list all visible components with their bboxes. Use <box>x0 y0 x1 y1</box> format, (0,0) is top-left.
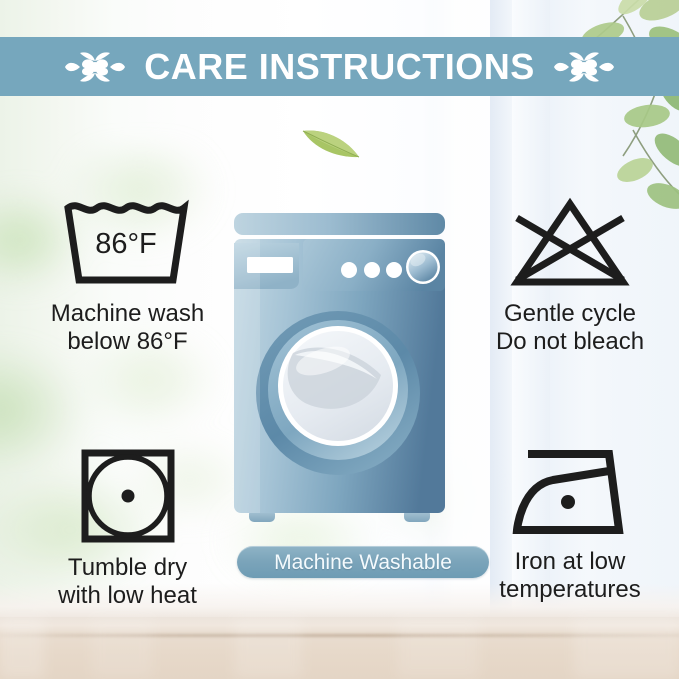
wash-temperature-label: 86°F <box>95 228 157 260</box>
care-symbol-caption: Tumble dry with low heat <box>58 554 197 610</box>
body-highlight <box>234 239 260 513</box>
caption-line-1: Tumble dry <box>68 554 187 581</box>
wash-tub-icon: 86°F <box>60 196 196 292</box>
care-symbol-do-not-bleach: Gentle cycle Do not bleach <box>470 196 670 356</box>
caption-line-2: with low heat <box>58 582 197 609</box>
care-symbol-caption: Gentle cycle Do not bleach <box>496 300 644 356</box>
tumble-dry-square-icon <box>78 446 178 546</box>
fleur-de-lis-left-icon <box>64 48 126 86</box>
indicator-dot <box>386 262 402 278</box>
care-symbol-tumble-dry: Tumble dry with low heat <box>20 446 235 610</box>
caption-line-2: temperatures <box>499 576 640 603</box>
floating-leaf-icon <box>300 122 362 162</box>
care-symbol-caption: Machine wash below 86°F <box>51 300 204 356</box>
caption-line-1: Machine wash <box>51 300 204 327</box>
iron-icon <box>505 446 635 540</box>
header-banner: CARE INSTRUCTIONS <box>0 37 679 96</box>
badge-label: Machine Washable <box>274 552 452 573</box>
care-symbol-caption: Iron at low temperatures <box>499 548 640 604</box>
machine-top-lid <box>234 213 445 235</box>
leaves-icon <box>495 0 679 220</box>
page-title: CARE INSTRUCTIONS <box>144 49 535 85</box>
care-instructions-graphic: CARE INSTRUCTIONS 86°F Machine wash belo… <box>0 0 679 679</box>
wood-surface <box>0 617 679 679</box>
caption-line-2: below 86°F <box>67 328 187 355</box>
caption-line-1: Iron at low <box>515 548 626 575</box>
care-symbol-machine-wash: 86°F Machine wash below 86°F <box>20 196 235 356</box>
caption-line-1: Gentle cycle <box>504 300 636 327</box>
machine-washable-badge: Machine Washable <box>237 546 489 578</box>
triangle-crossed-bleach-icon <box>505 196 635 292</box>
care-symbol-iron: Iron at low temperatures <box>470 446 670 604</box>
washing-machine-illustration <box>231 213 448 530</box>
indicator-dot <box>364 262 380 278</box>
fleur-de-lis-right-icon <box>553 48 615 86</box>
indicator-dot <box>341 262 357 278</box>
caption-line-2: Do not bleach <box>496 328 644 355</box>
